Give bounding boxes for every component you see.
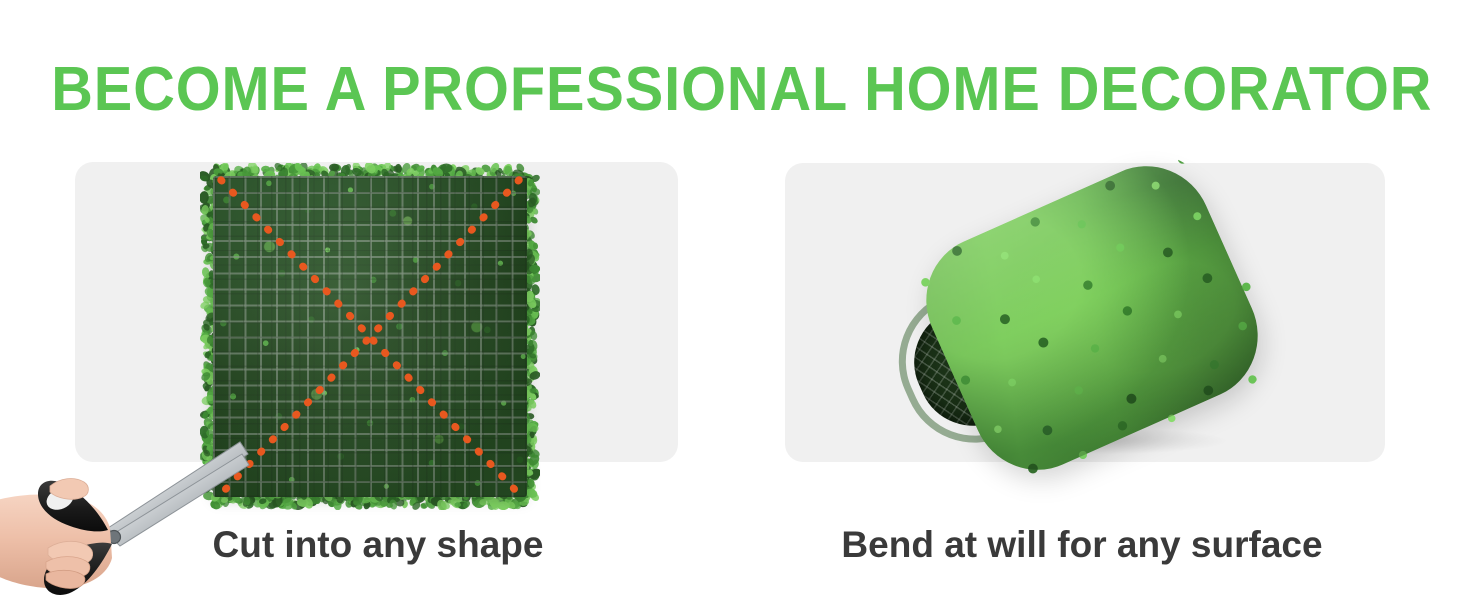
caption-bend: Bend at will for any surface: [782, 524, 1382, 566]
caption-cut: Cut into any shape: [78, 524, 678, 566]
rolled-boxwood-panel: [880, 160, 1300, 505]
hand-with-scissors: [0, 440, 300, 600]
page-title: BECOME A PROFESSIONAL HOME DECORATOR: [51, 57, 1413, 123]
promo-banner: BECOME A PROFESSIONAL HOME DECORATOR: [0, 0, 1464, 600]
